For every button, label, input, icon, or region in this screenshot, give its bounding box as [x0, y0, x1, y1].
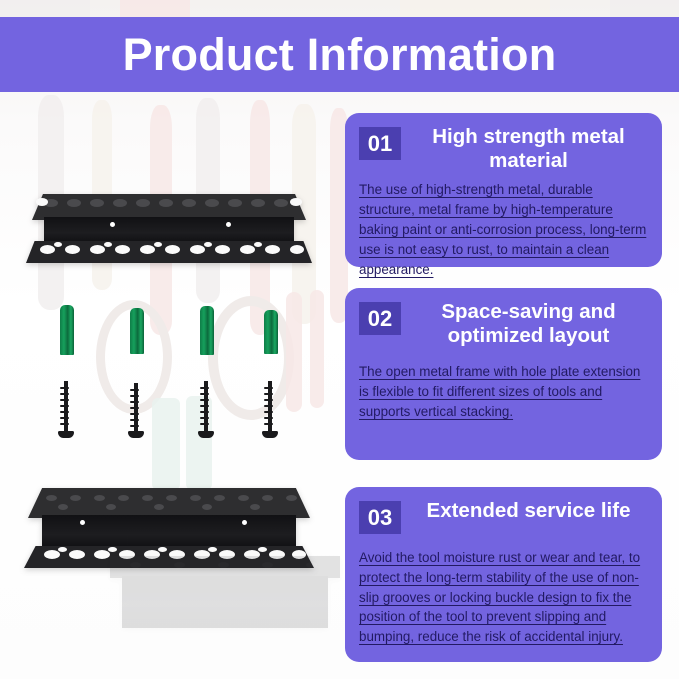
- feature-card-03: 03 Extended service life Avoid the tool …: [345, 487, 662, 662]
- feature-title: Space-saving and optimized layout: [413, 300, 648, 348]
- feature-title: High strength metal material: [413, 125, 648, 173]
- product-image: [0, 92, 345, 679]
- page-title: Product Information: [123, 32, 557, 77]
- wall-anchor: [60, 305, 74, 355]
- tool-rack-top-image: [14, 184, 324, 259]
- feature-body-text: The open metal frame with hole plate ext…: [359, 362, 648, 421]
- feature-title: Extended service life: [413, 499, 648, 523]
- tool-rack-reflection: [100, 556, 350, 626]
- product-information-infographic: Product Information: [0, 0, 679, 679]
- wall-anchor: [264, 310, 278, 354]
- feature-card-01: 01 High strength metal material The use …: [345, 113, 662, 267]
- feature-card-header: 03 Extended service life: [359, 499, 648, 534]
- wall-anchor: [200, 306, 214, 355]
- wall-anchor: [130, 308, 144, 354]
- feature-card-02: 02 Space-saving and optimized layout The…: [345, 288, 662, 460]
- page-banner: Product Information: [0, 17, 679, 92]
- feature-number-badge: 02: [359, 302, 401, 335]
- feature-body-text: The use of high-strength metal, durable …: [359, 180, 648, 279]
- feature-card-header: 02 Space-saving and optimized layout: [359, 300, 648, 348]
- feature-number-badge: 01: [359, 127, 401, 160]
- tool-rack-bottom-image: [14, 480, 324, 568]
- feature-body-text: Avoid the tool moisture rust or wear and…: [359, 548, 648, 647]
- feature-number-badge: 03: [359, 501, 401, 534]
- feature-card-header: 01 High strength metal material: [359, 125, 648, 173]
